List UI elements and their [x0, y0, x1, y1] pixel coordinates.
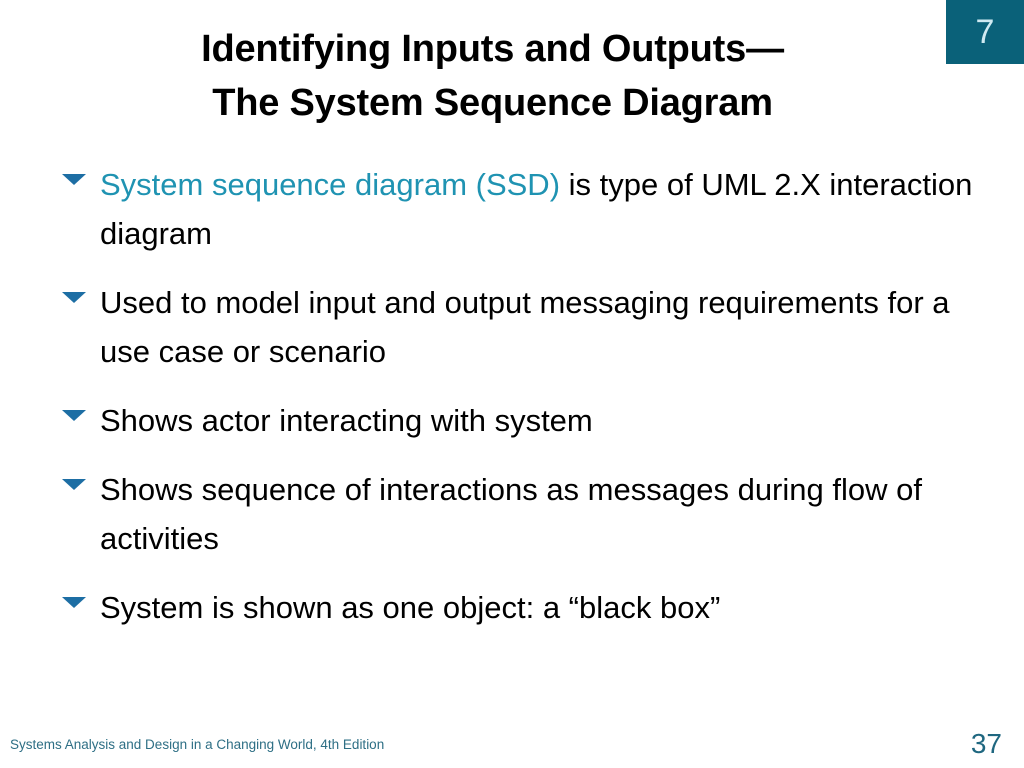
- slide-number-chip-text: 7: [976, 15, 995, 49]
- slide-title-line-2: The System Sequence Diagram: [60, 76, 925, 130]
- bullet-item: Shows actor interacting with system: [56, 396, 986, 445]
- triangle-down-bullet-icon: [62, 174, 86, 185]
- bullet-item: System sequence diagram (SSD) is type of…: [56, 160, 986, 258]
- bullet-item-body-text: Shows sequence of interactions as messag…: [100, 472, 922, 556]
- presentation-slide: 7 Identifying Inputs and Outputs— The Sy…: [0, 0, 1024, 768]
- triangle-down-bullet-icon: [62, 292, 86, 303]
- triangle-down-bullet-icon: [62, 410, 86, 421]
- bullet-item-text: Shows sequence of interactions as messag…: [100, 465, 986, 563]
- slide-body-bullet-list: System sequence diagram (SSD) is type of…: [56, 160, 986, 632]
- bullet-item: Shows sequence of interactions as messag…: [56, 465, 986, 563]
- footer-page-number: 37: [971, 728, 1002, 760]
- slide-title-line-1: Identifying Inputs and Outputs—: [60, 22, 925, 76]
- slide-title: Identifying Inputs and Outputs— The Syst…: [60, 22, 925, 130]
- triangle-down-bullet-icon: [62, 597, 86, 608]
- bullet-item-body-text: Shows actor interacting with system: [100, 403, 593, 438]
- bullet-item-text: System is shown as one object: a “black …: [100, 583, 986, 632]
- bullet-item-text: Used to model input and output messaging…: [100, 278, 986, 376]
- bullet-item: System is shown as one object: a “black …: [56, 583, 986, 632]
- bullet-item: Used to model input and output messaging…: [56, 278, 986, 376]
- footer-source-text: Systems Analysis and Design in a Changin…: [10, 737, 384, 752]
- bullet-item-text: System sequence diagram (SSD) is type of…: [100, 160, 986, 258]
- triangle-down-bullet-icon: [62, 479, 86, 490]
- bullet-item-body-text: Used to model input and output messaging…: [100, 285, 950, 369]
- slide-number-chip: 7: [946, 0, 1024, 64]
- bullet-item-text: Shows actor interacting with system: [100, 396, 986, 445]
- bullet-item-highlight-text: System sequence diagram (SSD): [100, 167, 560, 202]
- bullet-item-body-text: System is shown as one object: a “black …: [100, 590, 720, 625]
